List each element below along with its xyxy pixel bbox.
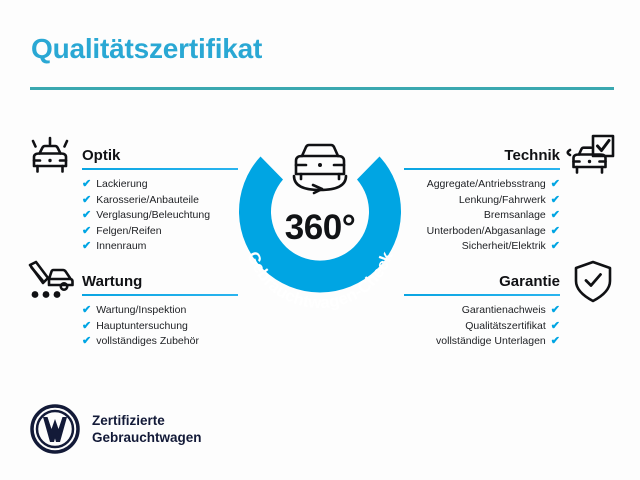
list-item: ✔Verglasung/Beleuchtung <box>82 208 238 224</box>
section-technik-underline <box>404 168 560 171</box>
section-wartung-items: ✔Wartung/Inspektion ✔Hauptuntersuchung ✔… <box>82 303 238 350</box>
certificate-page: Qualitätszertifikat Optik ✔Lackierung ✔K… <box>0 0 640 480</box>
section-optik: Optik ✔Lackierung ✔Karosserie/Anbauteile… <box>82 140 238 255</box>
footer-text: Zertifizierte Gebrauchtwagen <box>92 412 202 446</box>
section-garantie: Garantie Garantienachweis✔ Qualitätszert… <box>404 266 560 350</box>
section-garantie-title: Garantie <box>499 273 560 290</box>
footer-line-1: Zertifizierte <box>92 412 202 429</box>
list-item-label: Sicherheit/Elektrik <box>462 239 546 255</box>
section-technik-title: Technik <box>504 147 560 164</box>
section-garantie-underline <box>404 294 560 297</box>
section-optik-items: ✔Lackierung ✔Karosserie/Anbauteile ✔Verg… <box>82 177 238 255</box>
list-item: Sicherheit/Elektrik✔ <box>404 239 560 255</box>
list-item-label: Unterboden/Abgasanlage <box>427 224 546 240</box>
list-item: ✔Felgen/Reifen <box>82 224 238 240</box>
section-garantie-header: Garantie <box>404 266 560 296</box>
list-item: Aggregate/Antriebsstrang✔ <box>404 177 560 193</box>
badge-360-check: Gebrauchtwagen-Check 360° <box>218 112 422 316</box>
section-technik: Technik Aggregate/Antriebsstrang✔ Lenkun… <box>404 140 560 255</box>
footer-branding: Zertifizierte Gebrauchtwagen <box>30 404 202 454</box>
section-wartung-title: Wartung <box>82 273 142 290</box>
list-item-label: vollständiges Zubehör <box>96 334 199 350</box>
list-item: ✔Hauptuntersuchung <box>82 319 238 335</box>
check-icon: ✔ <box>551 224 560 240</box>
check-icon: ✔ <box>551 334 560 350</box>
list-item-label: Hauptuntersuchung <box>96 319 188 335</box>
car-shine-icon <box>23 133 77 184</box>
check-icon: ✔ <box>82 193 91 209</box>
check-icon: ✔ <box>82 303 91 319</box>
check-icon: ✔ <box>82 208 91 224</box>
vw-logo <box>30 404 80 454</box>
check-icon: ✔ <box>551 177 560 193</box>
section-garantie-items: Garantienachweis✔ Qualitätszertifikat✔ v… <box>404 303 560 350</box>
section-optik-title: Optik <box>82 147 120 164</box>
section-wartung-header: Wartung <box>82 266 238 296</box>
list-item-label: Lackierung <box>96 177 147 193</box>
service-record-icon <box>23 259 77 308</box>
check-icon: ✔ <box>82 224 91 240</box>
list-item: ✔Lackierung <box>82 177 238 193</box>
footer-line-2: Gebrauchtwagen <box>92 429 202 446</box>
list-item: Garantienachweis✔ <box>404 303 560 319</box>
check-icon: ✔ <box>551 193 560 209</box>
section-technik-header: Technik <box>404 140 560 170</box>
shield-check-icon <box>571 259 615 310</box>
check-icon: ✔ <box>551 239 560 255</box>
check-icon: ✔ <box>82 239 91 255</box>
section-optik-underline <box>82 168 238 171</box>
page-title: Qualitätszertifikat <box>31 33 262 65</box>
list-item: Unterboden/Abgasanlage✔ <box>404 224 560 240</box>
list-item-label: Bremsanlage <box>484 208 546 224</box>
badge-center-label: 360° <box>218 208 422 248</box>
list-item: vollständige Unterlagen✔ <box>404 334 560 350</box>
list-item-label: Wartung/Inspektion <box>96 303 186 319</box>
car-checkbox-icon <box>566 133 616 184</box>
check-icon: ✔ <box>551 208 560 224</box>
list-item: ✔vollständiges Zubehör <box>82 334 238 350</box>
list-item-label: Garantienachweis <box>462 303 546 319</box>
list-item-label: Verglasung/Beleuchtung <box>96 208 210 224</box>
check-icon: ✔ <box>551 319 560 335</box>
list-item: Qualitätszertifikat✔ <box>404 319 560 335</box>
list-item-label: Felgen/Reifen <box>96 224 161 240</box>
section-wartung: Wartung ✔Wartung/Inspektion ✔Hauptunters… <box>82 266 238 350</box>
check-icon: ✔ <box>551 303 560 319</box>
list-item-label: vollständige Unterlagen <box>436 334 546 350</box>
list-item-label: Lenkung/Fahrwerk <box>459 193 546 209</box>
list-item-label: Aggregate/Antriebsstrang <box>427 177 546 193</box>
list-item-label: Innenraum <box>96 239 146 255</box>
list-item: ✔Innenraum <box>82 239 238 255</box>
list-item: ✔Wartung/Inspektion <box>82 303 238 319</box>
list-item-label: Qualitätszertifikat <box>465 319 546 335</box>
section-wartung-underline <box>82 294 238 297</box>
list-item-label: Karosserie/Anbauteile <box>96 193 199 209</box>
check-icon: ✔ <box>82 177 91 193</box>
list-item: Lenkung/Fahrwerk✔ <box>404 193 560 209</box>
car-rotate-icon <box>294 145 346 193</box>
header-divider <box>30 87 614 90</box>
list-item: ✔Karosserie/Anbauteile <box>82 193 238 209</box>
check-icon: ✔ <box>82 319 91 335</box>
list-item: Bremsanlage✔ <box>404 208 560 224</box>
section-technik-items: Aggregate/Antriebsstrang✔ Lenkung/Fahrwe… <box>404 177 560 255</box>
check-icon: ✔ <box>82 334 91 350</box>
section-optik-header: Optik <box>82 140 238 170</box>
